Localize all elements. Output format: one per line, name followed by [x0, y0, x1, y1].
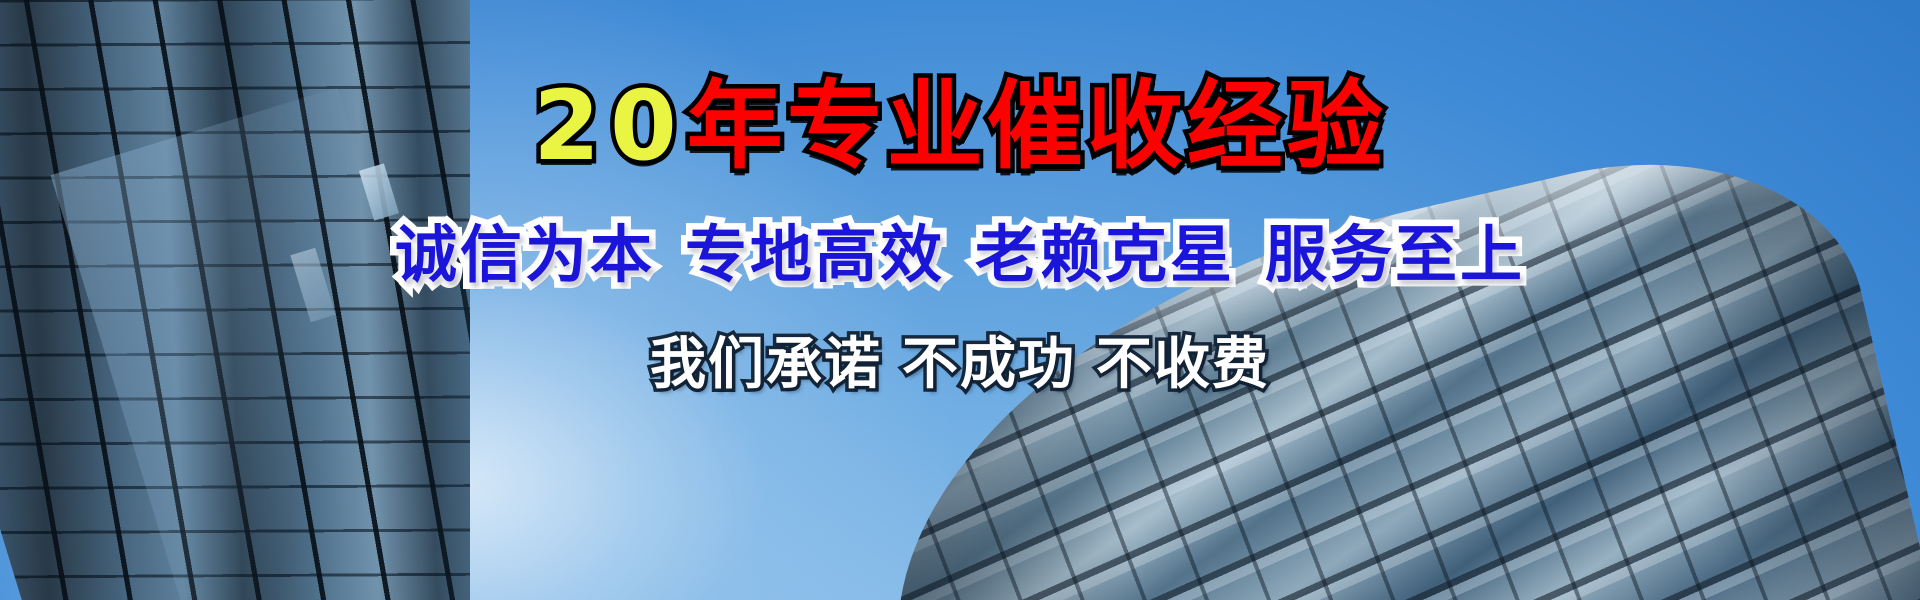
- headline-text: 年专业催收经验: [687, 70, 1387, 182]
- slogan-phrase-2: 专地高效: [685, 218, 945, 291]
- banner-slogan: 诚信为本专地高效老赖克星服务至上: [0, 222, 1920, 287]
- slogan-phrase-4: 服务至上: [1265, 218, 1525, 291]
- banner-headline: 20年专业催收经验: [0, 78, 1920, 174]
- slogan-phrase-1: 诚信为本: [395, 218, 655, 291]
- slogan-phrase-3: 老赖克星: [975, 218, 1235, 291]
- headline-number: 20: [533, 70, 687, 182]
- banner-promise: 我们承诺不成功不收费: [0, 336, 1920, 395]
- promise-phrase-3: 不收费: [1096, 332, 1270, 397]
- banner-text-layer: 20年专业催收经验 诚信为本专地高效老赖克星服务至上 我们承诺不成功不收费: [0, 0, 1920, 600]
- promise-phrase-1: 我们承诺: [650, 332, 882, 397]
- promo-banner: 20年专业催收经验 诚信为本专地高效老赖克星服务至上 我们承诺不成功不收费: [0, 0, 1920, 600]
- promise-phrase-2: 不成功: [902, 332, 1076, 397]
